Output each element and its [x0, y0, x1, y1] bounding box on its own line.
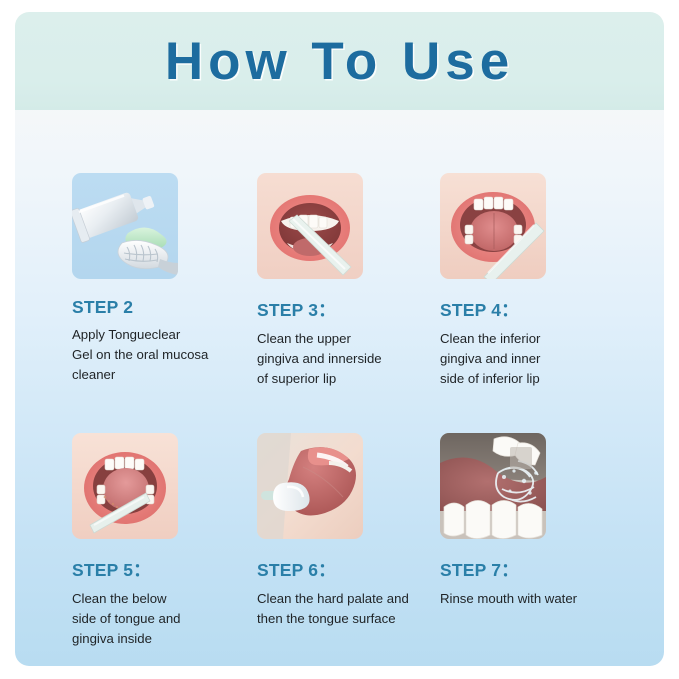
step-card-2: STEP 2 Apply Tongueclear Gel on the oral… [72, 173, 262, 385]
under-tongue-cleaning-image [72, 433, 178, 539]
step-title: STEP 7： [440, 557, 655, 582]
rinse-mouth-image [440, 433, 546, 539]
step-body: Apply Tongueclear Gel on the oral mucosa… [72, 325, 262, 385]
step-title: STEP 5： [72, 557, 262, 582]
step-card-4: STEP 4： Clean the inferior gingiva and i… [440, 173, 630, 389]
step-body: Rinse mouth with water [440, 589, 655, 609]
steps-grid: STEP 2 Apply Tongueclear Gel on the oral… [15, 110, 664, 666]
step-body: Clean the inferior gingiva and inner sid… [440, 329, 630, 389]
upper-gingiva-cleaning-image [257, 173, 363, 279]
step-title: STEP 3： [257, 297, 447, 322]
gel-tube-on-brush-head-image [72, 173, 178, 279]
step-title: STEP 4： [440, 297, 630, 322]
how-to-use-poster: How To Use [15, 12, 664, 666]
hard-palate-cleaning-image [257, 433, 363, 539]
step-card-7: STEP 7： Rinse mouth with water [440, 433, 655, 609]
step-title: STEP 2 [72, 297, 262, 318]
step-body: Clean the upper gingiva and innerside of… [257, 329, 447, 389]
page-title: How To Use [165, 31, 514, 92]
step-card-5: STEP 5： Clean the below side of tongue a… [72, 433, 262, 649]
step-body: Clean the below side of tongue and gingi… [72, 589, 262, 649]
inferior-gingiva-cleaning-image [440, 173, 546, 279]
header-banner: How To Use [15, 12, 664, 110]
step-card-3: STEP 3： Clean the upper gingiva and inne… [257, 173, 447, 389]
